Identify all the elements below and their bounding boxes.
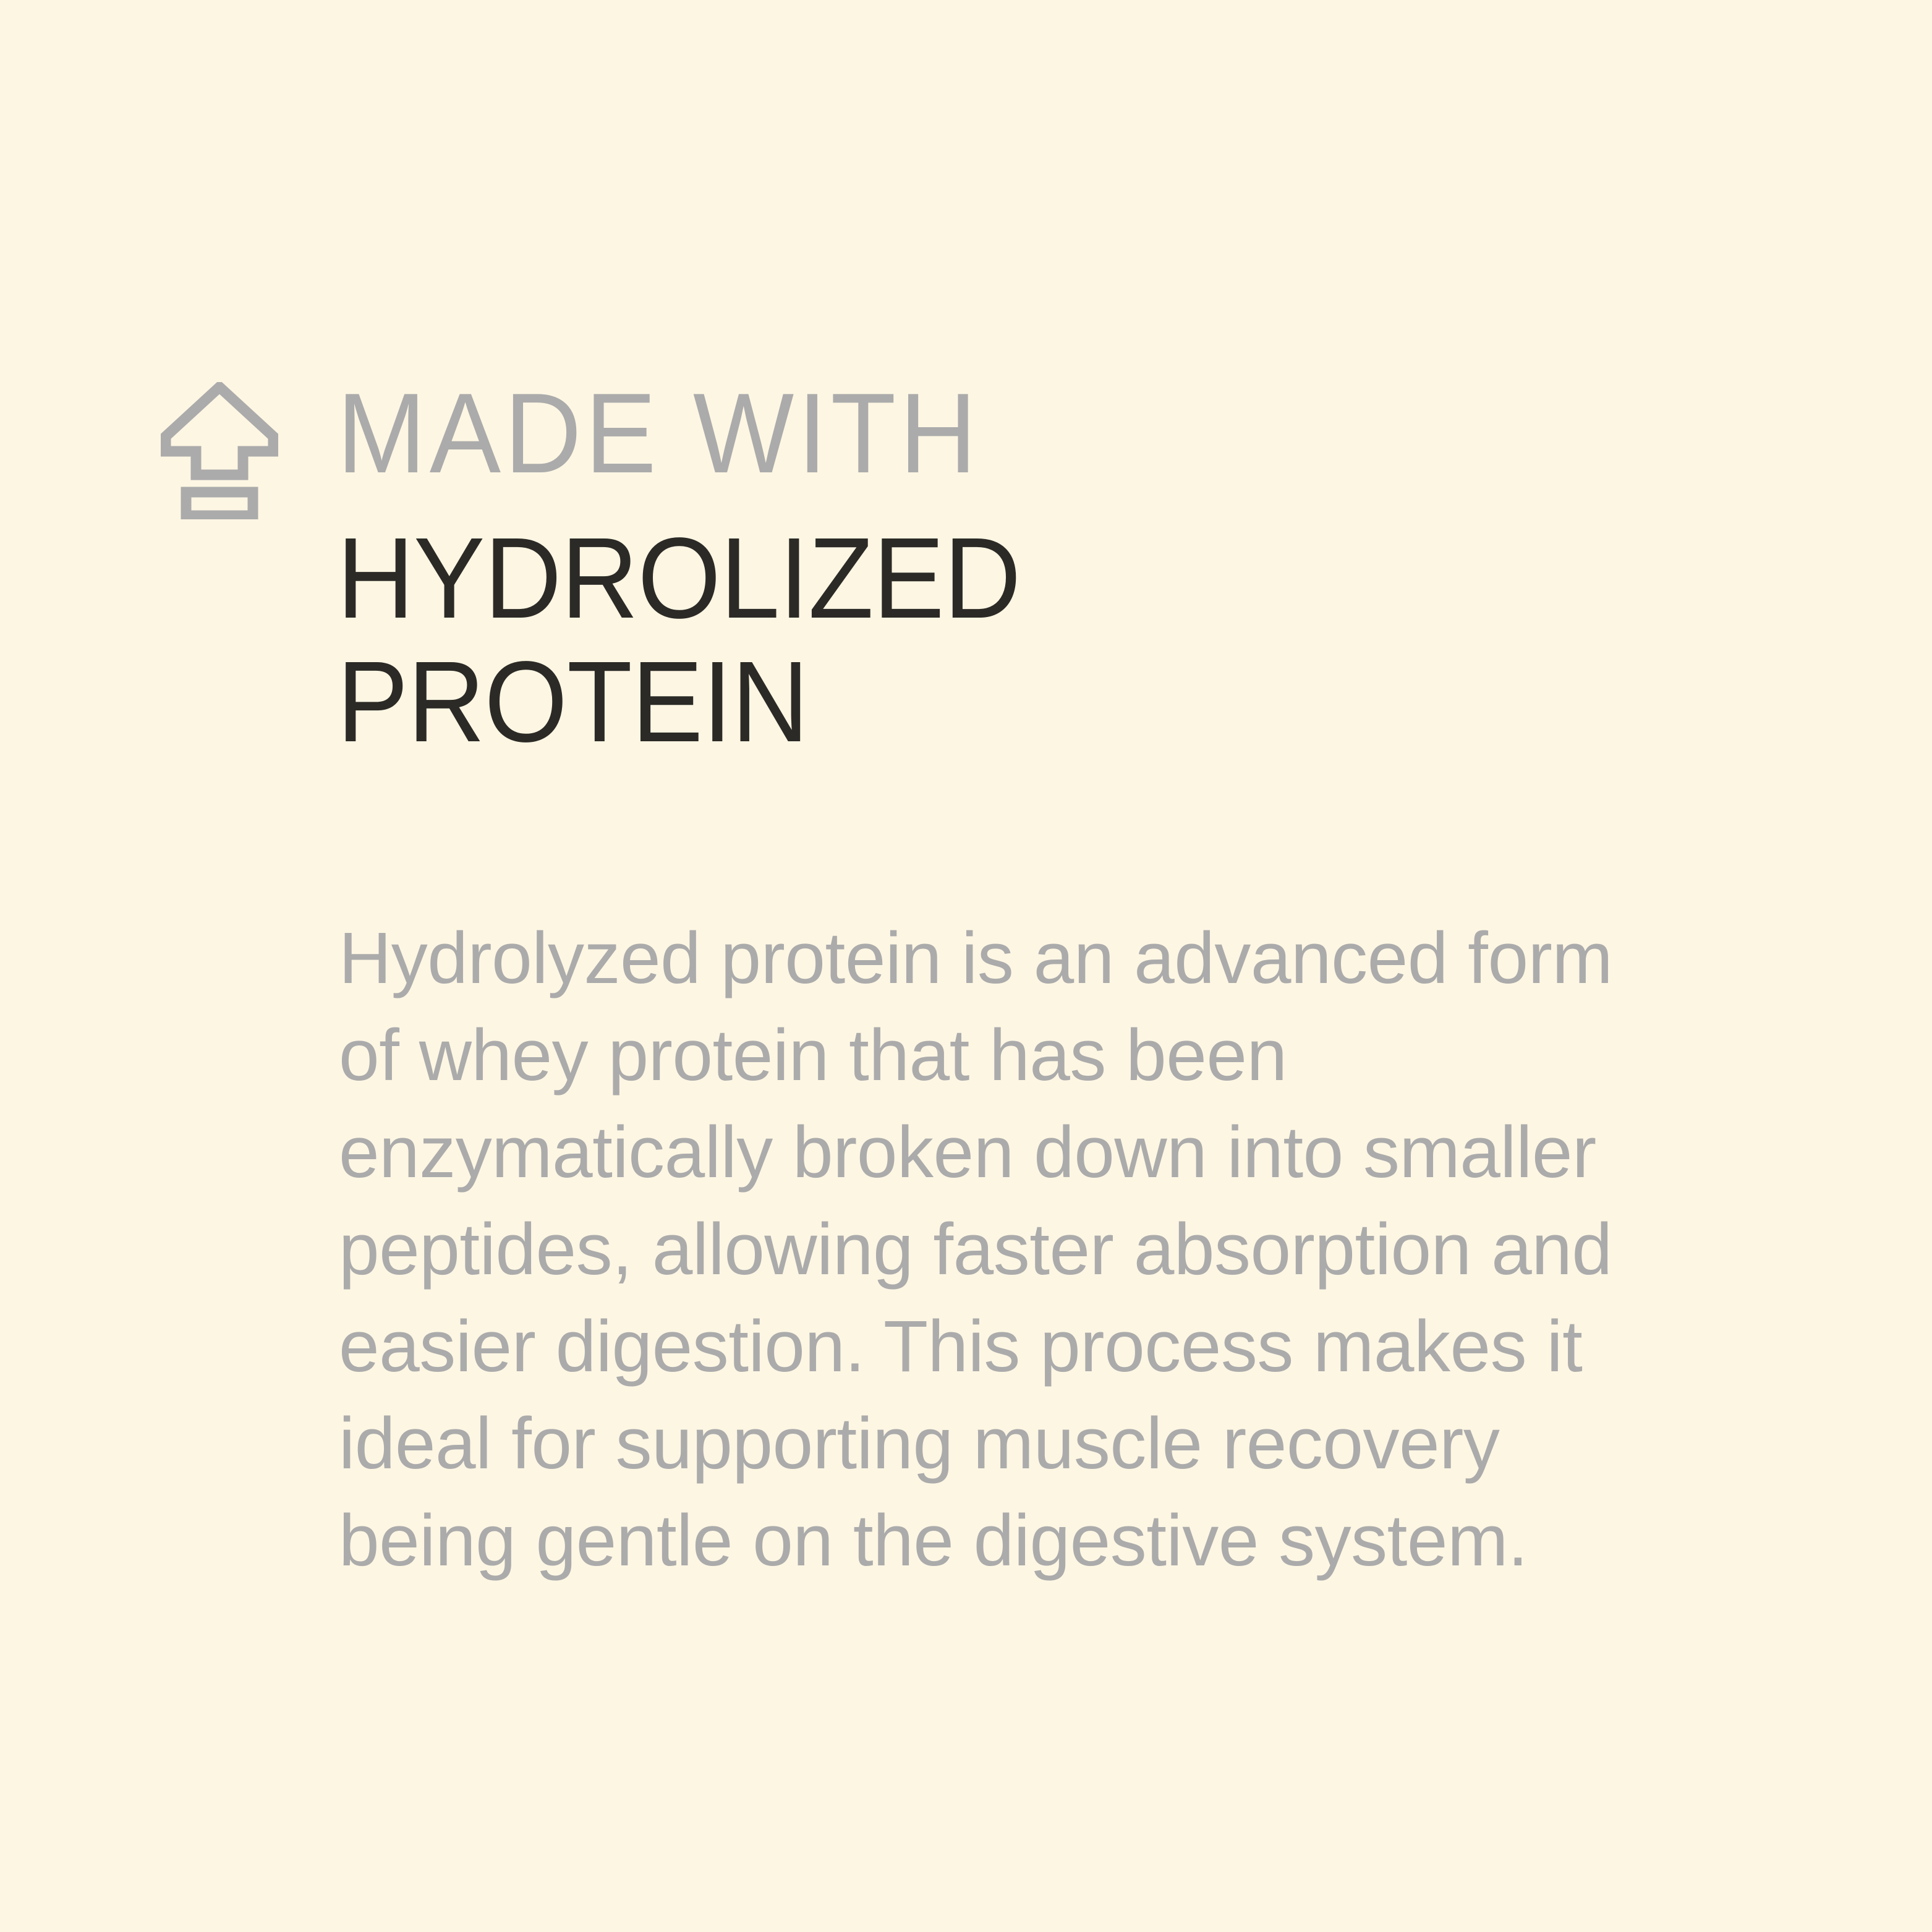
made-with-protein-card: MADE WITH HYDROLIZED PROTEIN Hydrolyzed … xyxy=(0,0,1932,1932)
body-line: ideal for supporting muscle recovery xyxy=(339,1395,1736,1492)
body-line: peptides, allowing faster absorption and xyxy=(339,1201,1736,1298)
body-line: being gentle on the digestive system. xyxy=(339,1492,1736,1589)
body-line: of whey protein that has been xyxy=(339,1007,1736,1104)
eyebrow-label: MADE WITH xyxy=(337,371,1674,495)
headline-line-1: HYDROLIZED xyxy=(337,517,1659,640)
headline-line-2: PROTEIN xyxy=(337,640,1659,764)
page-title: HYDROLIZED PROTEIN xyxy=(337,517,1659,764)
body-paragraph: Hydrolyzed protein is an advanced form o… xyxy=(339,910,1736,1589)
body-line: easier digestion. This process makes it xyxy=(339,1298,1736,1395)
up-arrow-icon xyxy=(161,382,278,519)
header-text-column: MADE WITH HYDROLIZED PROTEIN xyxy=(337,371,1759,764)
body-line: Hydrolyzed protein is an advanced form xyxy=(339,910,1736,1007)
body-line: enzymatically broken down into smaller xyxy=(339,1104,1736,1201)
